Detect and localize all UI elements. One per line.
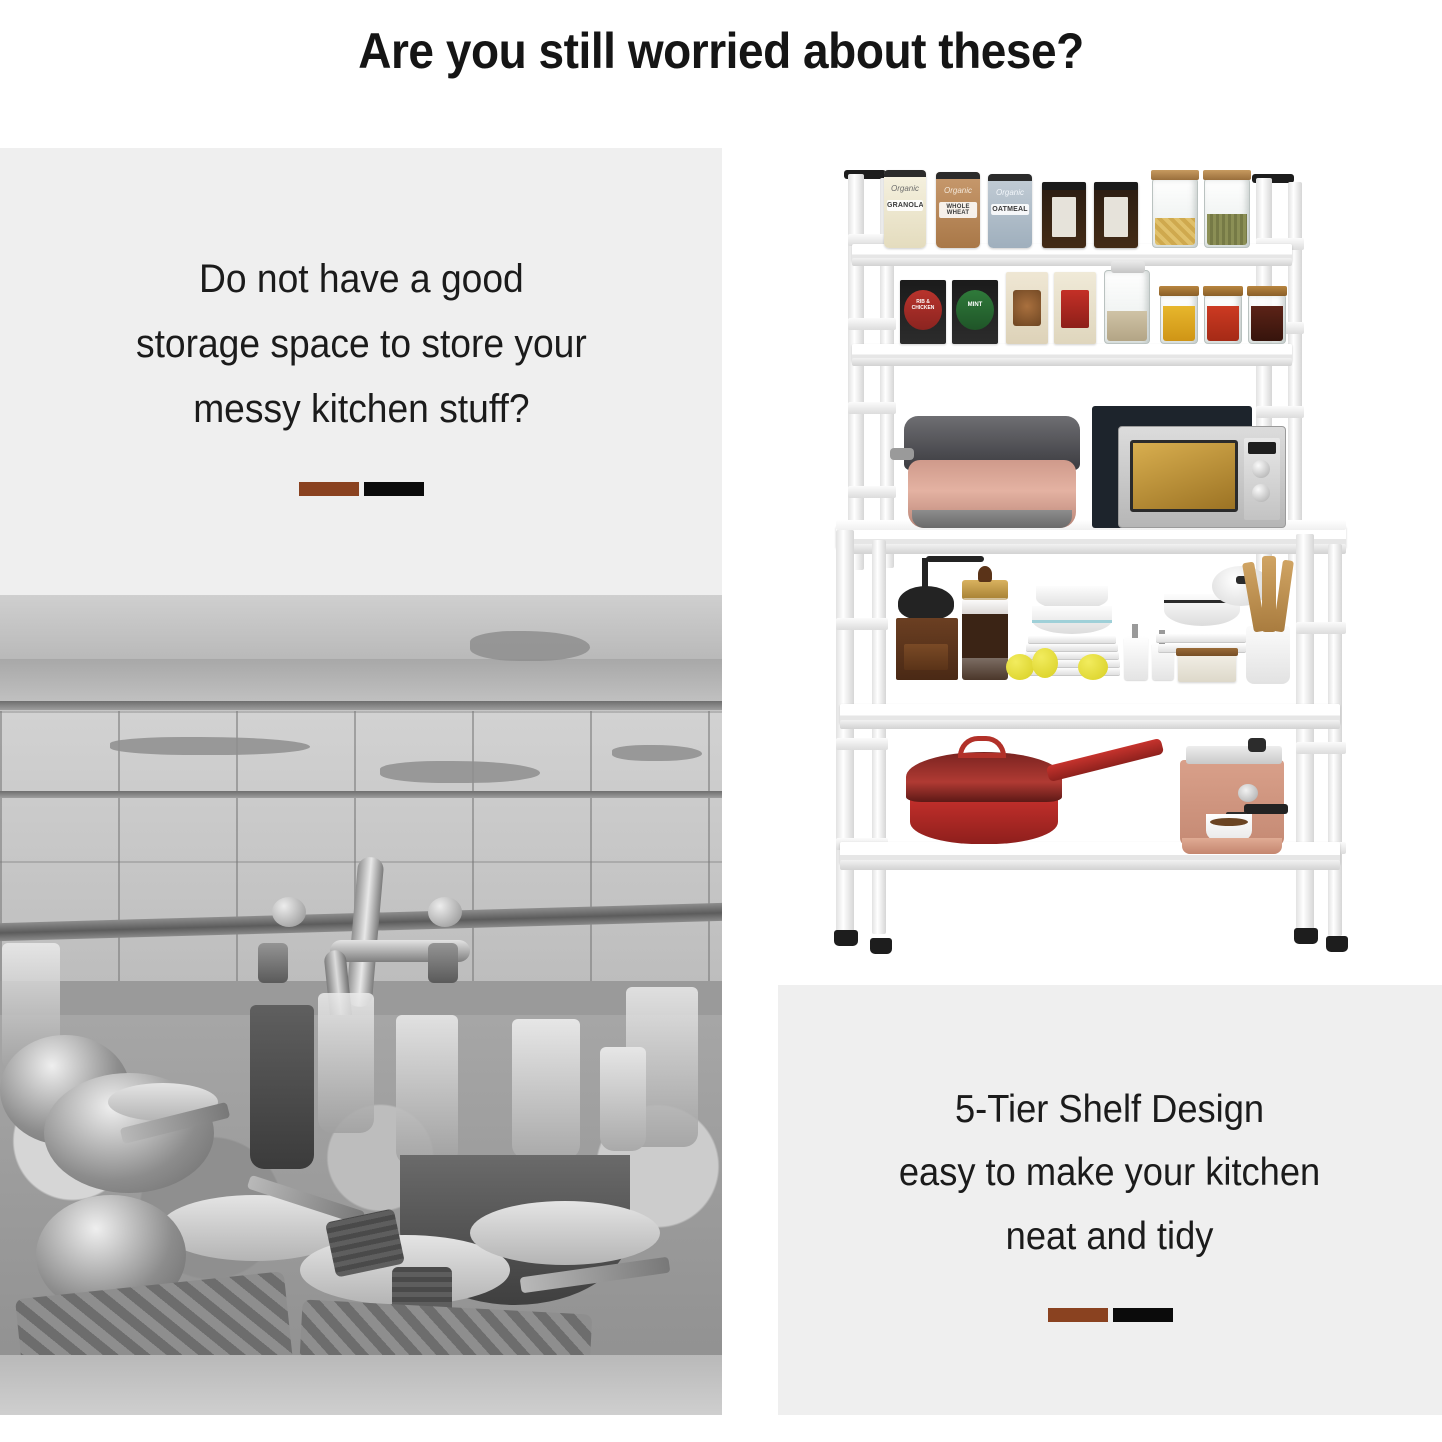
soap-dispenser-1 — [1124, 636, 1148, 680]
problem-line-2: storage space to store your — [136, 312, 587, 377]
messy-sink-photo — [0, 595, 722, 1415]
solution-line-3: neat and tidy — [899, 1205, 1320, 1268]
glass-jar-pasta — [1152, 178, 1198, 248]
canister-whole-wheat: Organic WHOLE WHEAT — [936, 172, 980, 248]
solution-panel-divider — [1048, 1308, 1173, 1322]
dark-jar-1 — [1042, 182, 1086, 248]
solution-panel-text: 5-Tier Shelf Design easy to make your ki… — [868, 1078, 1353, 1268]
plate-stack-1 — [1028, 636, 1116, 643]
coffee-grinder-dome — [898, 586, 954, 620]
dark-jar-2 — [1094, 182, 1138, 248]
problem-line-1: Do not have a good — [136, 247, 587, 312]
problem-line-3: messy kitchen stuff? — [136, 377, 587, 442]
utensil-crock — [1246, 626, 1290, 684]
frying-pan-lid — [906, 752, 1062, 802]
lemon-3 — [1078, 654, 1108, 680]
solution-line-1: 5-Tier Shelf Design — [899, 1078, 1320, 1141]
problem-panel-divider — [299, 482, 424, 496]
lemon-2 — [1032, 648, 1058, 678]
condiment-jar-dark — [1248, 294, 1286, 344]
lemon-1 — [1006, 654, 1034, 680]
page-title: Are you still worried about these? — [58, 22, 1385, 80]
solution-panel: 5-Tier Shelf Design easy to make your ki… — [778, 985, 1442, 1415]
enamel-plate-stack — [1156, 634, 1246, 642]
problem-panel-text: Do not have a good storage space to stor… — [104, 247, 618, 441]
marketing-image-root: Are you still worried about these? Do no… — [0, 0, 1442, 1442]
divider-bar-black — [1113, 1308, 1173, 1322]
solution-line-2: easy to make your kitchen — [899, 1141, 1320, 1204]
condiment-jar-red — [1204, 294, 1242, 344]
baker-rack-photo: Organic GRANOLA Organic WHOLE WHEAT Orga… — [740, 148, 1442, 978]
divider-bar-brown — [1048, 1308, 1108, 1322]
sauce-bottle-rib-chicken: RIB & CHICKEN — [900, 280, 946, 344]
frying-pan-handle — [1046, 738, 1164, 782]
espresso-machine-top — [1186, 746, 1282, 764]
problem-panel: Do not have a good storage space to stor… — [0, 148, 722, 595]
french-press-lid — [962, 580, 1008, 600]
condiment-jar-yellow — [1160, 294, 1198, 344]
canister-granola: Organic GRANOLA — [884, 170, 926, 248]
tea-box-1 — [1006, 272, 1048, 344]
wood-spoon — [1273, 560, 1294, 633]
microwave-window — [1130, 440, 1238, 512]
wooden-box — [1178, 652, 1236, 682]
divider-bar-black — [364, 482, 424, 496]
canister-oatmeal: Organic OATMEAL — [988, 174, 1032, 248]
tea-box-2 — [1054, 272, 1096, 344]
divider-bar-brown — [299, 482, 359, 496]
frying-pan-body — [910, 796, 1058, 844]
glass-jar-grains — [1204, 178, 1250, 248]
sauce-bottle-mint: MINT — [952, 280, 998, 344]
glass-storage-jar — [1104, 270, 1150, 344]
